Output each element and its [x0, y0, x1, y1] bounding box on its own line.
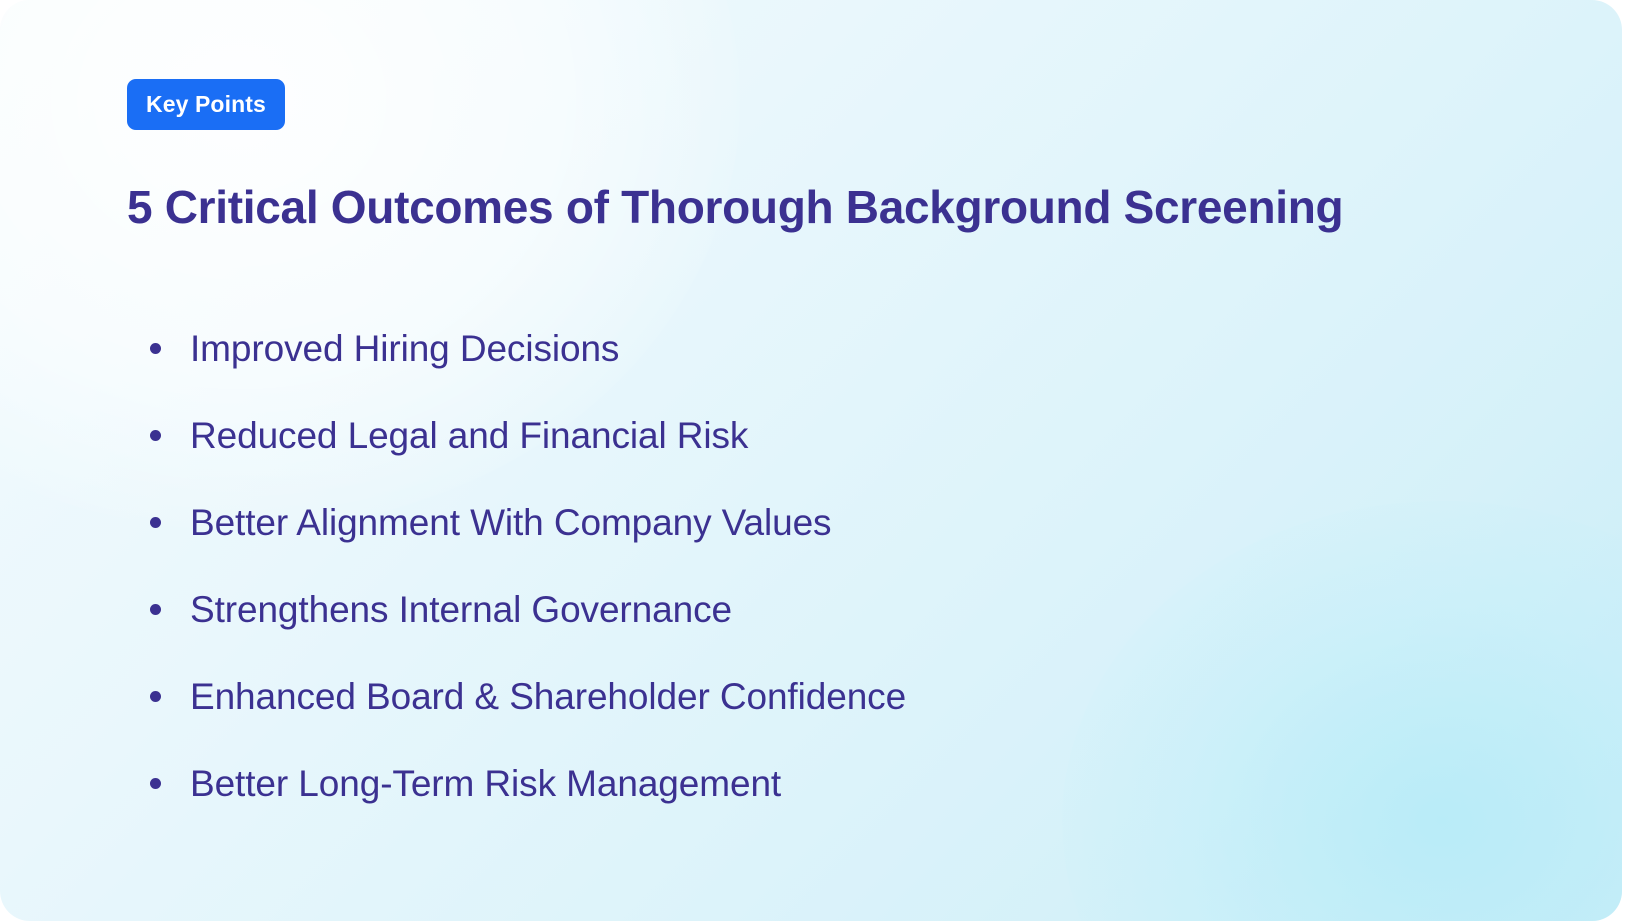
bullet-dot-icon	[150, 778, 161, 789]
key-points-badge-label: Key Points	[146, 91, 266, 118]
list-item-label: Better Long-Term Risk Management	[190, 765, 781, 802]
bullet-dot-icon	[150, 343, 161, 354]
list-item: Better Long-Term Risk Management	[150, 740, 906, 827]
list-item-label: Improved Hiring Decisions	[190, 330, 619, 367]
outcomes-list: Improved Hiring Decisions Reduced Legal …	[150, 305, 906, 827]
background-glow-bottom-right	[1062, 501, 1622, 921]
list-item: Improved Hiring Decisions	[150, 305, 906, 392]
list-item-label: Enhanced Board & Shareholder Confidence	[190, 678, 906, 715]
list-item: Enhanced Board & Shareholder Confidence	[150, 653, 906, 740]
list-item: Better Alignment With Company Values	[150, 479, 906, 566]
list-item-label: Strengthens Internal Governance	[190, 591, 732, 628]
list-item: Reduced Legal and Financial Risk	[150, 392, 906, 479]
list-item: Strengthens Internal Governance	[150, 566, 906, 653]
bullet-dot-icon	[150, 604, 161, 615]
bullet-dot-icon	[150, 517, 161, 528]
list-item-label: Reduced Legal and Financial Risk	[190, 417, 748, 454]
key-points-badge: Key Points	[127, 79, 285, 130]
background-swirl-inner	[883, 385, 1622, 921]
bullet-dot-icon	[150, 691, 161, 702]
list-item-label: Better Alignment With Company Values	[190, 504, 831, 541]
bullet-dot-icon	[150, 430, 161, 441]
page-title: 5 Critical Outcomes of Thorough Backgrou…	[127, 180, 1343, 234]
key-points-card: Key Points 5 Critical Outcomes of Thorou…	[0, 0, 1622, 921]
